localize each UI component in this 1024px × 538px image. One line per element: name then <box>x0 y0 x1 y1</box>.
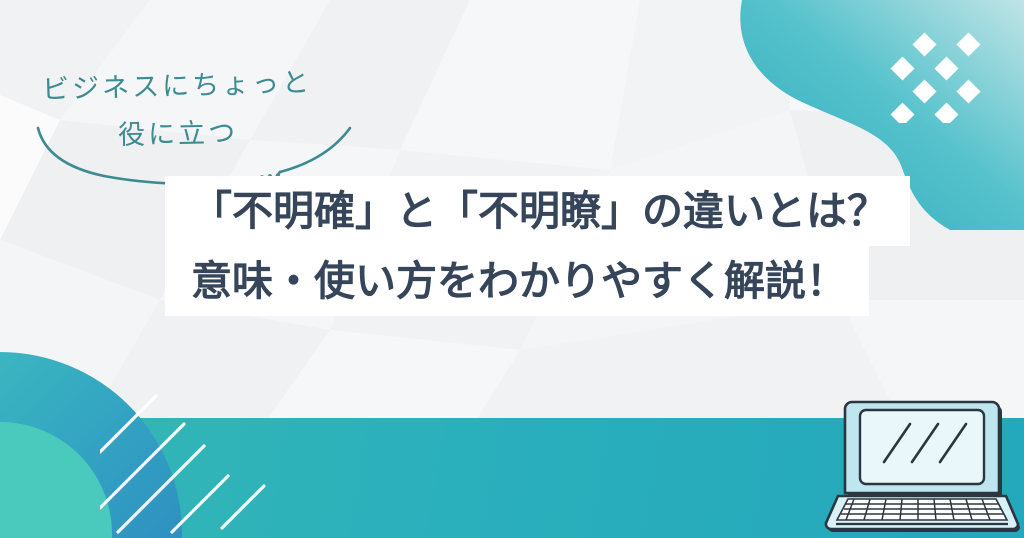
page-title: 「不明確」と「不明瞭」の違いとは？ 意味・使い方をわかりやすく解説！ <box>165 176 910 316</box>
white-diamond-dot-grid <box>888 18 1008 123</box>
catchcopy-line-1: ビジネスにちょっと <box>42 60 313 107</box>
laptop-icon <box>822 386 1020 534</box>
title-line-1: 「不明確」と「不明瞭」の違いとは？ <box>165 176 910 246</box>
catchcopy-line-2: 役に立つ <box>118 111 239 152</box>
eyecatch-banner: ビジネスにちょっと 役に立つ 「不明確」と「不明瞭」の違いとは？ 意味・使い方を… <box>0 0 1024 538</box>
title-line-2: 意味・使い方をわかりやすく解説！ <box>165 246 869 316</box>
white-diagonal-stripes <box>100 380 280 538</box>
